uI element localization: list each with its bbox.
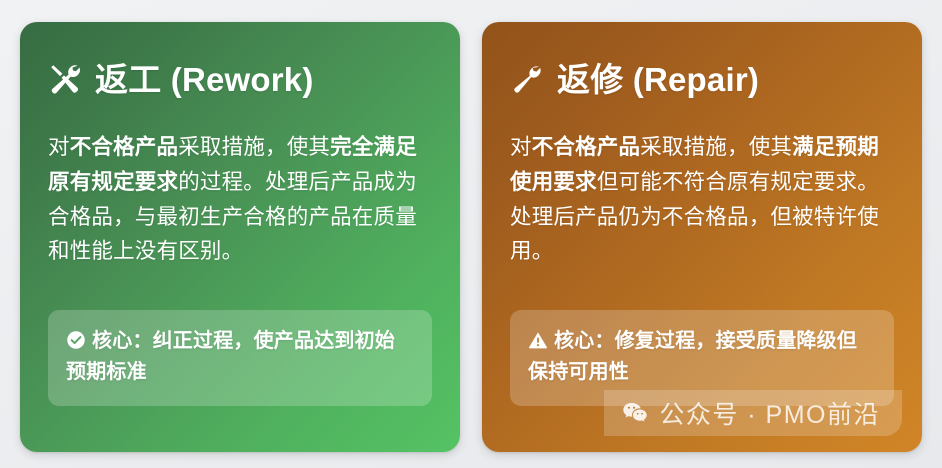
card-rework-title-text: 返工 (Rework) bbox=[95, 63, 314, 96]
body-seg: 对 bbox=[510, 135, 532, 159]
card-repair-title: 返修 (Repair) bbox=[510, 62, 892, 96]
warning-triangle-icon bbox=[528, 330, 548, 350]
wechat-icon bbox=[622, 400, 648, 426]
wrench-icon bbox=[510, 62, 544, 96]
body-seg-bold: 不合格产品 bbox=[532, 135, 641, 159]
comparison-board: 返工 (Rework) 对不合格产品采取措施，使其完全满足原有规定要求的过程。处… bbox=[0, 0, 942, 468]
check-circle-icon bbox=[66, 330, 86, 350]
body-seg: 采取措施，使其 bbox=[640, 135, 792, 159]
card-rework-title: 返工 (Rework) bbox=[48, 62, 430, 96]
card-rework-body: 对不合格产品采取措施，使其完全满足原有规定要求的过程。处理后产品成为合格品，与最… bbox=[48, 130, 422, 269]
watermark-text: 公众号 · PMO前沿 bbox=[659, 395, 880, 431]
body-seg: 采取措施，使其 bbox=[178, 135, 330, 159]
body-seg-bold: 不合格产品 bbox=[70, 135, 179, 159]
card-repair: 返修 (Repair) 对不合格产品采取措施，使其满足预期使用要求但可能不符合原… bbox=[482, 22, 922, 452]
card-rework-callout-text: 核心：纠正过程，使产品达到初始预期标准 bbox=[66, 330, 395, 384]
card-repair-title-text: 返修 (Repair) bbox=[557, 63, 759, 96]
body-seg: 对 bbox=[48, 135, 70, 159]
card-repair-callout-text: 核心：修复过程，接受质量降级但保持可用性 bbox=[528, 330, 857, 384]
card-rework: 返工 (Rework) 对不合格产品采取措施，使其完全满足原有规定要求的过程。处… bbox=[20, 22, 460, 452]
tools-icon bbox=[48, 62, 82, 96]
card-rework-callout: 核心：纠正过程，使产品达到初始预期标准 bbox=[48, 310, 432, 406]
card-repair-body: 对不合格产品采取措施，使其满足预期使用要求但可能不符合原有规定要求。处理后产品仍… bbox=[510, 130, 884, 269]
watermark: 公众号 · PMO前沿 bbox=[604, 390, 902, 436]
